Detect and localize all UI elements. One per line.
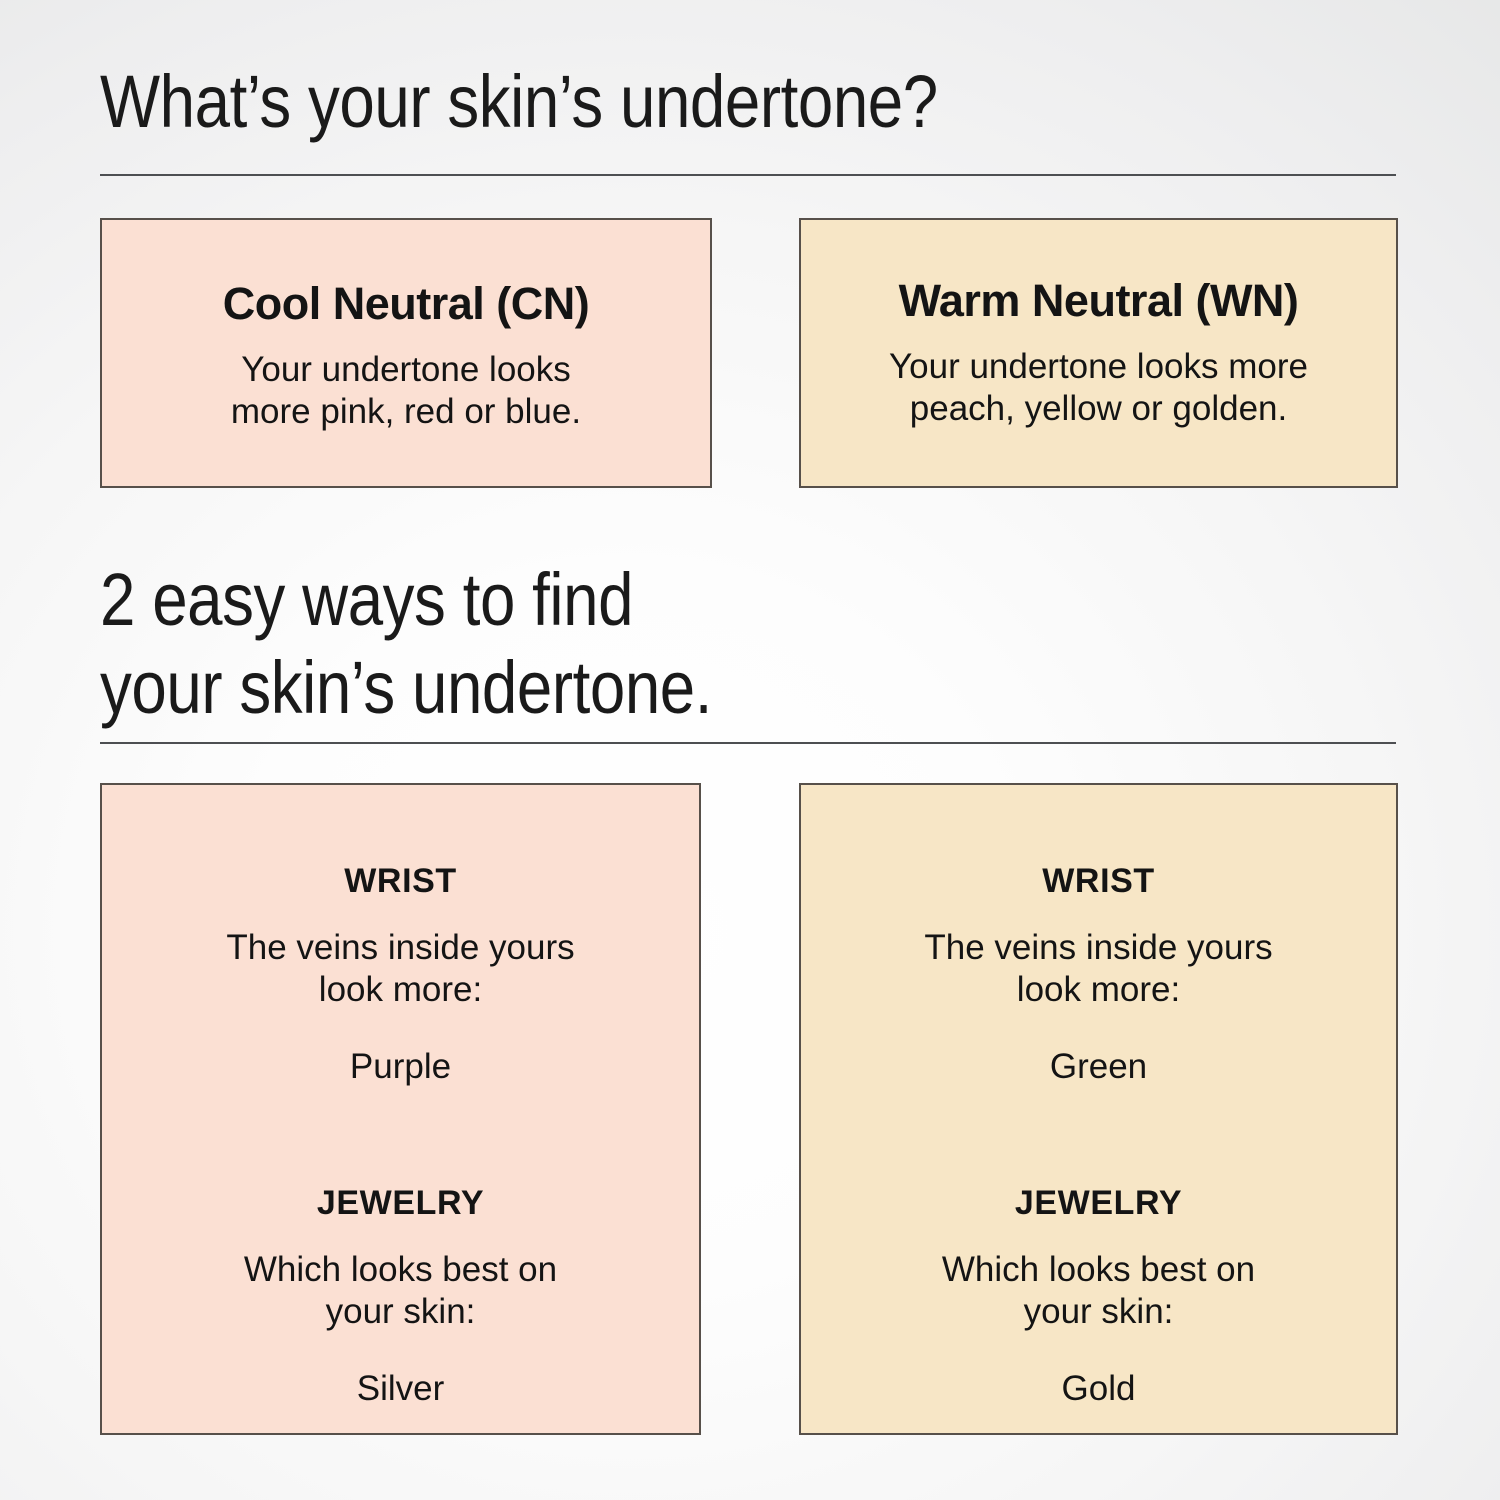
cool-jewelry-section: JEWELRY Which looks best on your skin: S… — [102, 1184, 699, 1409]
card-cool-neutral: Cool Neutral (CN) Your undertone looks m… — [100, 218, 712, 488]
warm-jewelry-section: JEWELRY Which looks best on your skin: G… — [801, 1184, 1396, 1409]
undertone-infographic: What’s your skin’s undertone? Cool Neutr… — [0, 0, 1500, 1500]
cool-wrist-label: WRIST — [102, 862, 699, 901]
warm-jewelry-question-line-2: your skin: — [801, 1291, 1396, 1333]
warm-wrist-answer: Green — [801, 1047, 1396, 1087]
warm-wrist-question-line-1: The veins inside yours — [801, 927, 1396, 969]
warm-neutral-description-line-1: Your undertone looks more — [801, 346, 1396, 388]
warm-wrist-question-line-2: look more: — [801, 969, 1396, 1011]
cool-neutral-title: Cool Neutral (CN) — [102, 279, 710, 329]
cool-jewelry-question: Which looks best on your skin: — [102, 1249, 699, 1333]
cool-wrist-question-line-1: The veins inside yours — [102, 927, 699, 969]
cool-neutral-description: Your undertone looks more pink, red or b… — [102, 349, 710, 433]
warm-wrist-question: The veins inside yours look more: — [801, 927, 1396, 1011]
warm-jewelry-question-line-1: Which looks best on — [801, 1249, 1396, 1291]
cool-wrist-answer: Purple — [102, 1047, 699, 1087]
section-title: 2 easy ways to find your skin’s underton… — [100, 556, 712, 732]
cool-wrist-section: WRIST The veins inside yours look more: … — [102, 862, 699, 1087]
warm-wrist-label: WRIST — [801, 862, 1396, 901]
page-title: What’s your skin’s undertone? — [100, 56, 938, 148]
warm-neutral-title: Warm Neutral (WN) — [801, 276, 1396, 326]
title-divider — [100, 174, 1396, 176]
warm-wrist-section: WRIST The veins inside yours look more: … — [801, 862, 1396, 1087]
section-title-line-1: 2 easy ways to find — [100, 556, 712, 644]
card-cool-ways: WRIST The veins inside yours look more: … — [100, 783, 701, 1435]
card-warm-ways: WRIST The veins inside yours look more: … — [799, 783, 1398, 1435]
card-warm-neutral: Warm Neutral (WN) Your undertone looks m… — [799, 218, 1398, 488]
warm-jewelry-label: JEWELRY — [801, 1184, 1396, 1223]
cool-neutral-description-line-1: Your undertone looks — [102, 349, 710, 391]
warm-neutral-description: Your undertone looks more peach, yellow … — [801, 346, 1396, 430]
warm-jewelry-question: Which looks best on your skin: — [801, 1249, 1396, 1333]
cool-neutral-description-line-2: more pink, red or blue. — [102, 391, 710, 433]
warm-neutral-description-line-2: peach, yellow or golden. — [801, 388, 1396, 430]
cool-jewelry-question-line-2: your skin: — [102, 1291, 699, 1333]
warm-jewelry-answer: Gold — [801, 1369, 1396, 1409]
cool-wrist-question: The veins inside yours look more: — [102, 927, 699, 1011]
section-title-line-2: your skin’s undertone. — [100, 644, 712, 732]
section-divider — [100, 742, 1396, 744]
cool-wrist-question-line-2: look more: — [102, 969, 699, 1011]
cool-jewelry-answer: Silver — [102, 1369, 699, 1409]
cool-jewelry-question-line-1: Which looks best on — [102, 1249, 699, 1291]
cool-jewelry-label: JEWELRY — [102, 1184, 699, 1223]
